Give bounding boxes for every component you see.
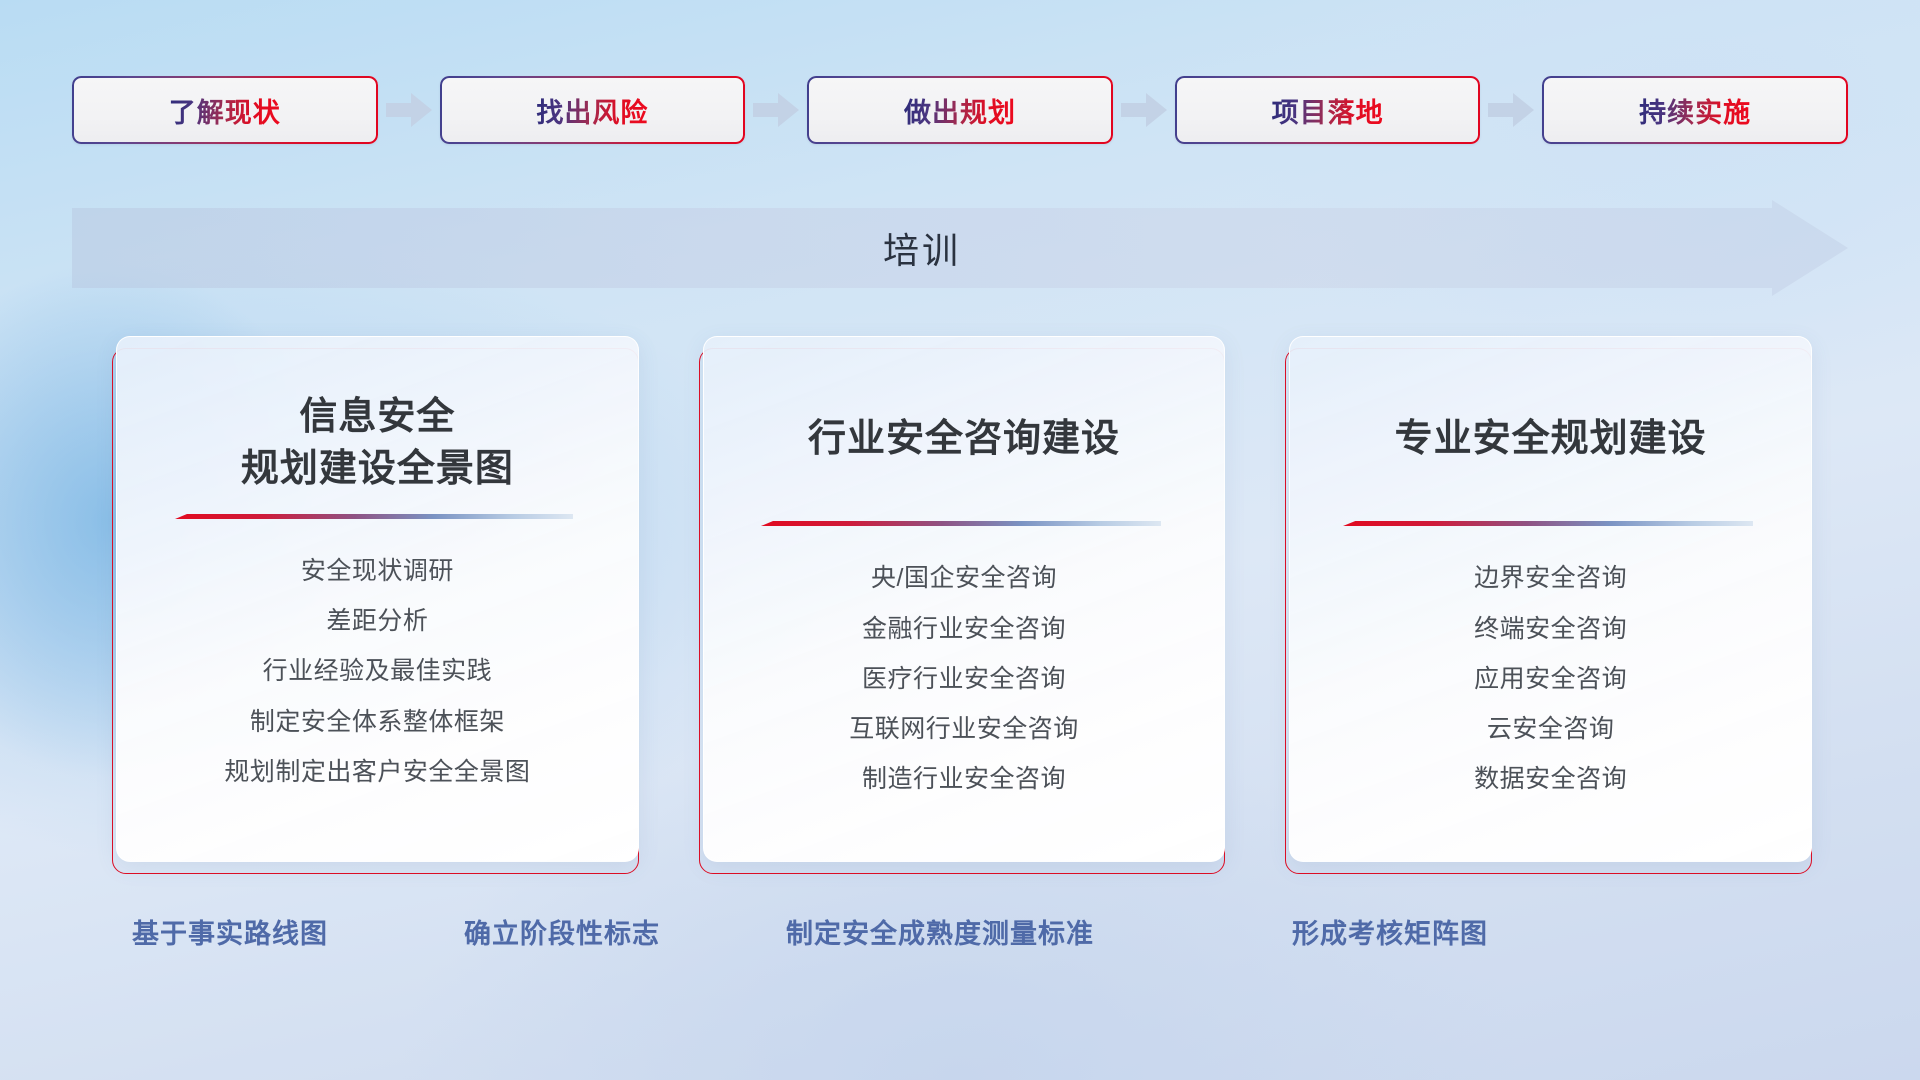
card-list: 央/国企安全咨询 金融行业安全咨询 医疗行业安全咨询 互联网行业安全咨询 制造行…	[726, 558, 1203, 800]
list-item: 差距分析	[326, 601, 428, 642]
training-banner-label: 培训	[72, 200, 1772, 296]
list-item: 互联网行业安全咨询	[849, 709, 1079, 750]
footer-label-2: 确立阶段性标志	[464, 912, 660, 951]
step-arrow-icon-1	[378, 76, 440, 144]
card-list: 边界安全咨询 终端安全咨询 应用安全咨询 云安全咨询 数据安全咨询	[1312, 558, 1789, 800]
step-label: 项目落地	[1272, 91, 1384, 130]
card-title-line: 规划建设全景图	[241, 443, 514, 495]
card-divider-icon	[175, 514, 573, 525]
footer-labels-row: 基于事实路线图 确立阶段性标志 制定安全成熟度测量标准 形成考核矩阵图	[0, 912, 1920, 968]
list-item: 央/国企安全咨询	[871, 558, 1057, 599]
list-item: 终端安全咨询	[1474, 609, 1627, 650]
list-item: 数据安全咨询	[1474, 759, 1627, 800]
card-2: 行业安全咨询建设	[699, 336, 1226, 874]
list-item: 医疗行业安全咨询	[862, 659, 1066, 700]
step-label: 找出风险	[536, 91, 648, 130]
list-item: 制定安全体系整体框架	[250, 702, 505, 743]
training-banner-arrow: 培训	[72, 200, 1848, 296]
card-body[interactable]: 信息安全 规划建设全景图	[116, 336, 639, 862]
list-item: 制造行业安全咨询	[862, 759, 1066, 800]
process-steps-row: 了解现状 找出风险 做出规划 项目落地	[72, 76, 1848, 144]
card-title-line: 信息安全	[241, 391, 514, 443]
step-label: 持续实施	[1639, 91, 1751, 130]
step-chip-4[interactable]: 项目落地	[1175, 76, 1481, 144]
card-body[interactable]: 专业安全规划建设	[1289, 336, 1812, 862]
step-chip-3[interactable]: 做出规划	[807, 76, 1113, 144]
footer-label-3: 制定安全成熟度测量标准	[786, 912, 1094, 951]
step-label: 了解现状	[169, 91, 281, 130]
card-1: 信息安全 规划建设全景图	[112, 336, 639, 874]
list-item: 应用安全咨询	[1474, 659, 1627, 700]
card-title-line: 专业安全规划建设	[1395, 413, 1707, 465]
card-body[interactable]: 行业安全咨询建设	[703, 336, 1226, 862]
list-item: 边界安全咨询	[1474, 558, 1627, 599]
step-label: 做出规划	[904, 91, 1016, 130]
card-title: 行业安全咨询建设	[808, 413, 1120, 465]
list-item: 云安全咨询	[1487, 709, 1615, 750]
step-chip-5[interactable]: 持续实施	[1542, 76, 1848, 144]
card-title: 专业安全规划建设	[1395, 413, 1707, 465]
step-arrow-icon-3	[1113, 76, 1175, 144]
list-item: 安全现状调研	[301, 551, 454, 592]
list-item: 金融行业安全咨询	[862, 609, 1066, 650]
card-list: 安全现状调研 差距分析 行业经验及最佳实践 制定安全体系整体框架 规划制定出客户…	[139, 551, 616, 793]
card-title: 信息安全 规划建设全景图	[241, 391, 514, 496]
card-divider-icon	[1343, 521, 1753, 532]
card-divider-icon	[761, 521, 1161, 532]
footer-label-4: 形成考核矩阵图	[1292, 912, 1488, 951]
step-arrow-icon-4	[1480, 76, 1542, 144]
list-item: 规划制定出客户安全全景图	[224, 752, 530, 793]
step-chip-2[interactable]: 找出风险	[440, 76, 746, 144]
slide-canvas: 了解现状 找出风险 做出规划 项目落地	[0, 0, 1920, 1080]
footer-label-1: 基于事实路线图	[132, 912, 328, 951]
card-3: 专业安全规划建设	[1285, 336, 1812, 874]
step-arrow-icon-2	[745, 76, 807, 144]
step-chip-1[interactable]: 了解现状	[72, 76, 378, 144]
list-item: 行业经验及最佳实践	[263, 651, 493, 692]
cards-row: 信息安全 规划建设全景图	[112, 336, 1812, 874]
card-title-line: 行业安全咨询建设	[808, 413, 1120, 465]
